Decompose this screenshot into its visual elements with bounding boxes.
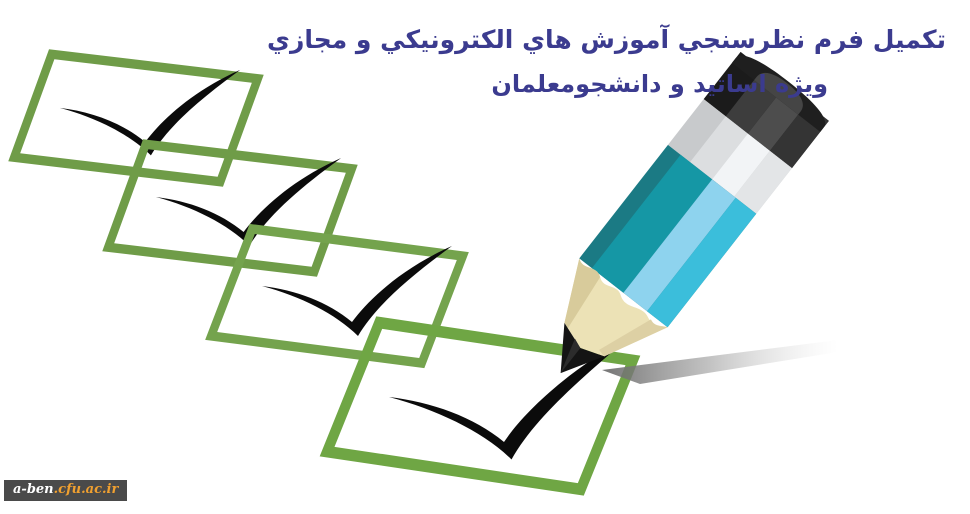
watermark-primary: a-ben (13, 482, 54, 497)
pencil-illustration (560, 44, 810, 384)
watermark-secondary: .cfu.ac.ir (54, 482, 119, 497)
watermark: a-ben.cfu.ac.ir (4, 480, 127, 501)
poster-banner: تکمیل فرم نظرسنجي آموزش هاي الکترونیکي و… (0, 0, 970, 514)
